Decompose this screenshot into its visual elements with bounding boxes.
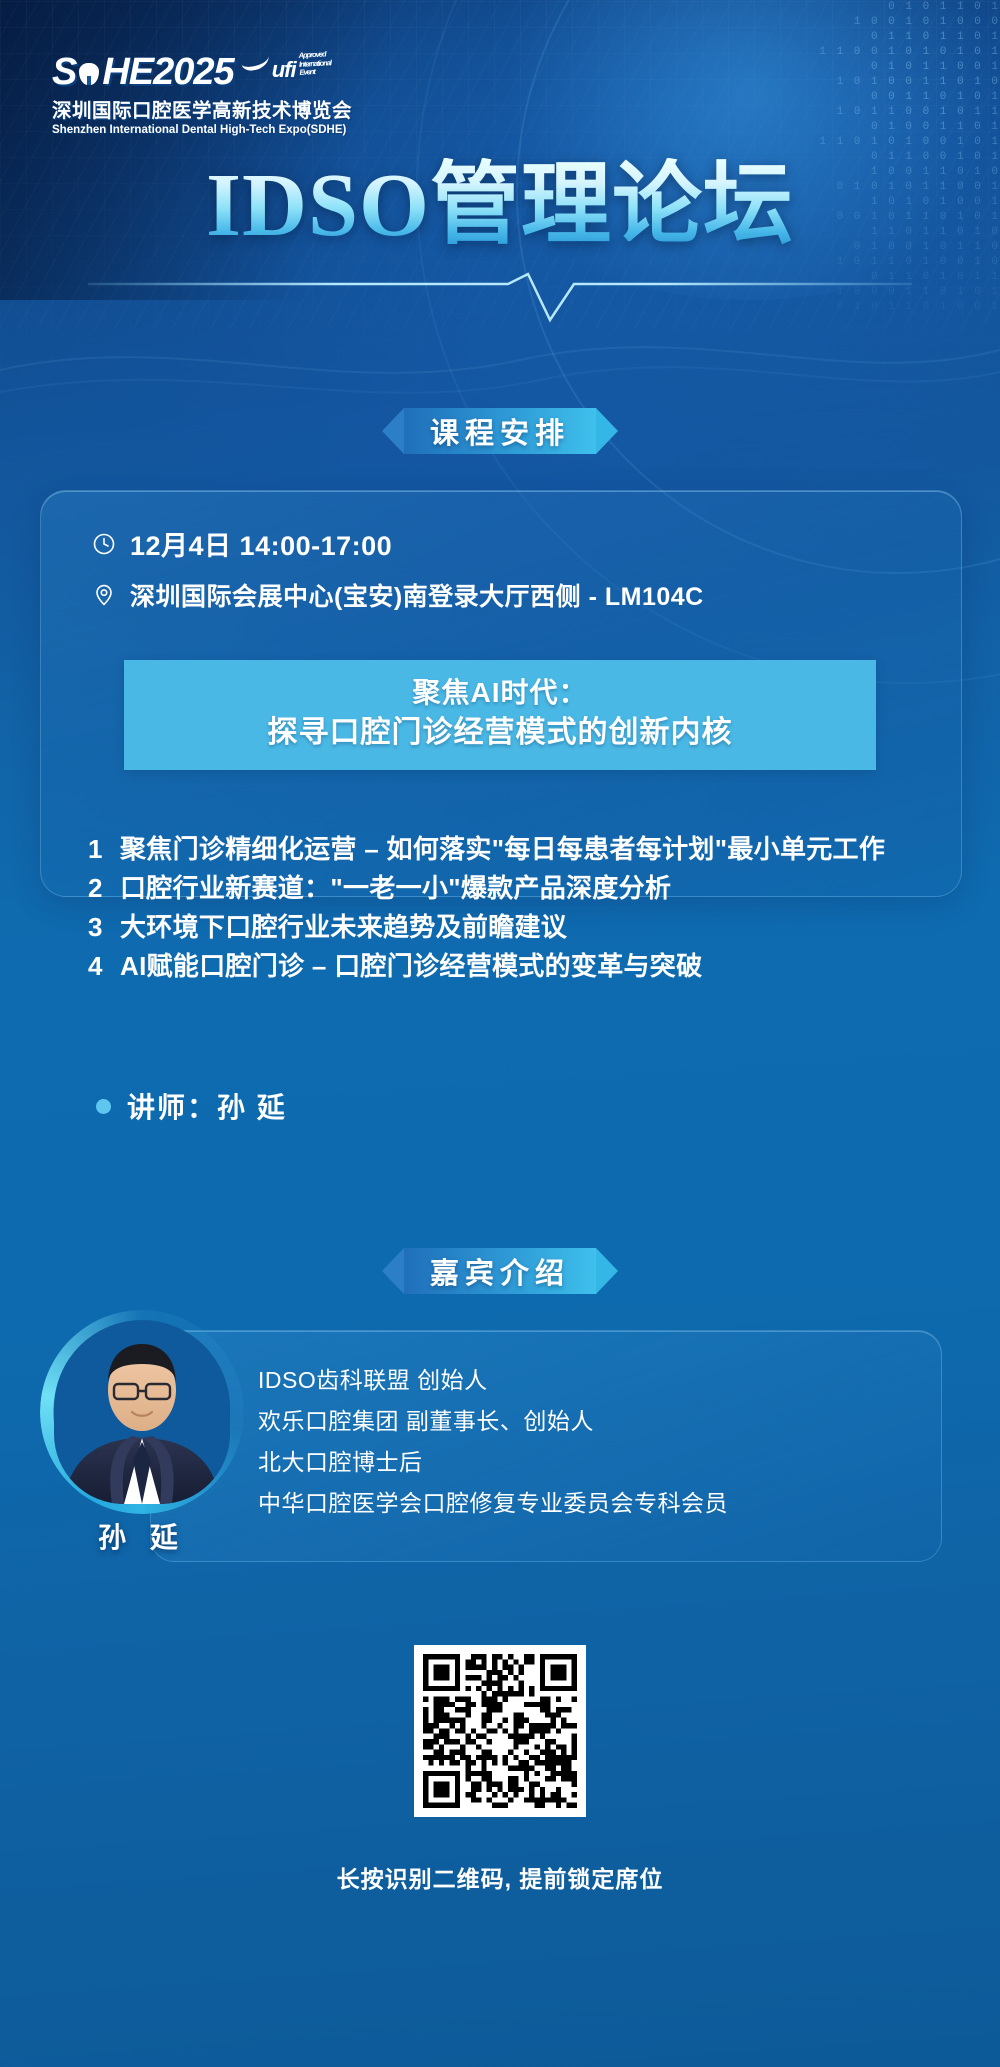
qr-code-image	[423, 1654, 577, 1808]
schedule-banner: 课程安排	[382, 408, 618, 454]
logo-letter-s: S	[52, 52, 76, 92]
agenda-item-text: 聚焦门诊精细化运营 – 如何落实"每日每患者每计划"最小单元工作	[120, 830, 948, 869]
schedule-banner-label: 课程安排	[404, 408, 596, 454]
avatar-illustration	[54, 1320, 230, 1504]
chevron-left-icon	[382, 408, 404, 454]
speaker-label: 讲师：孙 延	[127, 1086, 287, 1126]
agenda-item: 3大环境下口腔行业未来趋势及前瞻建议	[88, 908, 948, 947]
tooth-icon	[79, 63, 99, 85]
event-date-row: 12月4日 14:00-17:00	[92, 524, 932, 563]
topic-line-2: 探寻口腔门诊经营模式的创新内核	[124, 712, 876, 754]
logo-chinese-name: 深圳国际口腔医学高新技术博览会	[52, 94, 342, 123]
agenda-item-number: 2	[88, 869, 108, 908]
chevron-right-icon	[596, 1248, 618, 1294]
event-location-row: 深圳国际会展中心(宝安)南登录大厅西侧 - LM104C	[92, 577, 932, 613]
agenda-item-text: AI赋能口腔门诊 – 口腔门诊经营模式的变革与突破	[120, 947, 948, 986]
background-top-shade	[0, 0, 420, 300]
logo-english-name: Shenzhen International Dental High-Tech …	[52, 124, 342, 136]
topic-line-1: 聚焦AI时代：	[124, 674, 876, 712]
topic-highlight: 聚焦AI时代： 探寻口腔门诊经营模式的创新内核	[124, 660, 876, 770]
guest-banner: 嘉宾介绍	[382, 1248, 618, 1294]
background-arc-1	[516, 0, 1000, 574]
agenda-item-text: 口腔行业新赛道："一老一小"爆款产品深度分析	[120, 869, 948, 908]
agenda-item-number: 4	[88, 947, 108, 986]
location-pin-icon	[92, 583, 116, 607]
bullet-icon	[96, 1099, 111, 1114]
chevron-left-icon	[382, 1248, 404, 1294]
agenda-list: 1聚焦门诊精细化运营 – 如何落实"每日每患者每计划"最小单元工作2口腔行业新赛…	[88, 830, 948, 986]
agenda-item-text: 大环境下口腔行业未来趋势及前瞻建议	[120, 908, 948, 947]
speaker-name: 孙 延	[98, 1522, 186, 1553]
speaker-row: 讲师：孙 延	[96, 1086, 287, 1126]
logo-wordmark: S HE2025 ufi ApprovedInternationalEvent	[52, 52, 342, 92]
background-wave	[0, 300, 1000, 420]
guest-banner-label: 嘉宾介绍	[404, 1248, 596, 1294]
avatar	[54, 1320, 230, 1504]
pulse-line-decoration	[88, 268, 912, 328]
agenda-item-number: 1	[88, 830, 108, 869]
guest-bio-list: IDSO齿科联盟 创始人欢乐口腔集团 副董事长、创始人北大口腔博士后中华口腔医学…	[258, 1360, 948, 1524]
event-meta: 12月4日 14:00-17:00 深圳国际会展中心(宝安)南登录大厅西侧 - …	[92, 524, 932, 627]
ufi-mark: ufi ApprovedInternationalEvent	[241, 50, 331, 90]
sdhe-logo: S HE2025 ufi ApprovedInternationalEvent …	[52, 52, 342, 136]
poster-root: 0 1 0 1 1 0 11 0 0 1 0 1 0 0 00 1 1 0 1 …	[0, 0, 1000, 2067]
guest-bio-line: 欢乐口腔集团 副董事长、创始人	[258, 1401, 948, 1442]
logo-text-rest: HE2025	[102, 52, 233, 92]
guest-bio-line: 北大口腔博士后	[258, 1442, 948, 1483]
ufi-approved-note: ApprovedInternationalEvent	[298, 49, 331, 77]
clock-icon	[92, 532, 116, 556]
chevron-right-icon	[596, 408, 618, 454]
agenda-item: 1聚焦门诊精细化运营 – 如何落实"每日每患者每计划"最小单元工作	[88, 830, 948, 869]
speaker-portrait: 孙 延	[32, 1302, 252, 1562]
guest-bio-line: IDSO齿科联盟 创始人	[258, 1360, 948, 1401]
swoosh-icon	[239, 48, 270, 73]
ufi-label: ufi	[272, 50, 296, 90]
background-glow	[440, 0, 1000, 300]
speaker-name-plate: 孙 延	[50, 1516, 234, 1556]
agenda-item: 4AI赋能口腔门诊 – 口腔门诊经营模式的变革与突破	[88, 947, 948, 986]
agenda-item: 2口腔行业新赛道："一老一小"爆款产品深度分析	[88, 869, 948, 908]
qr-caption: 长按识别二维码, 提前锁定席位	[0, 1860, 1000, 1894]
agenda-item-number: 3	[88, 908, 108, 947]
guest-bio-line: 中华口腔医学会口腔修复专业委员会专科会员	[258, 1483, 948, 1524]
qr-code[interactable]	[414, 1645, 586, 1817]
event-location: 深圳国际会展中心(宝安)南登录大厅西侧 - LM104C	[130, 577, 704, 613]
page-title: IDSO管理论坛	[0, 158, 1000, 254]
event-date: 12月4日 14:00-17:00	[130, 524, 392, 563]
